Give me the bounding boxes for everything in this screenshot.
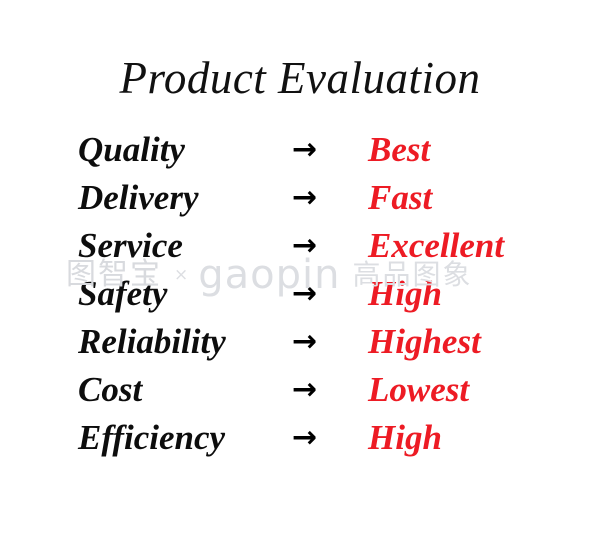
criterion-value: Lowest bbox=[368, 368, 469, 416]
arrow-right-icon: → bbox=[292, 224, 317, 272]
list-item: Safety → High bbox=[0, 272, 600, 320]
criterion-label: Service bbox=[78, 224, 183, 272]
list-item: Efficiency → High bbox=[0, 416, 600, 464]
criterion-label: Quality bbox=[78, 128, 185, 176]
arrow-right-icon: → bbox=[292, 416, 317, 464]
evaluation-list: Quality → Best Delivery → Fast Service →… bbox=[0, 128, 600, 464]
criterion-label: Reliability bbox=[78, 320, 226, 368]
arrow-right-icon: → bbox=[292, 320, 317, 368]
arrow-right-icon: → bbox=[292, 368, 317, 416]
criterion-value: Fast bbox=[368, 176, 432, 224]
arrow-right-icon: → bbox=[292, 128, 317, 176]
criterion-value: High bbox=[368, 272, 442, 320]
product-evaluation-image: Product Evaluation Quality → Best Delive… bbox=[0, 0, 600, 548]
arrow-right-icon: → bbox=[292, 176, 317, 224]
list-item: Cost → Lowest bbox=[0, 368, 600, 416]
criterion-label: Delivery bbox=[78, 176, 198, 224]
list-item: Delivery → Fast bbox=[0, 176, 600, 224]
criterion-value: Best bbox=[368, 128, 430, 176]
list-item: Quality → Best bbox=[0, 128, 600, 176]
criterion-label: Cost bbox=[78, 368, 142, 416]
page-title: Product Evaluation bbox=[0, 52, 600, 104]
arrow-right-icon: → bbox=[292, 272, 317, 320]
criterion-value: High bbox=[368, 416, 442, 464]
list-item: Service → Excellent bbox=[0, 224, 600, 272]
criterion-value: Excellent bbox=[368, 224, 504, 272]
criterion-label: Efficiency bbox=[78, 416, 225, 464]
list-item: Reliability → Highest bbox=[0, 320, 600, 368]
criterion-label: Safety bbox=[78, 272, 167, 320]
criterion-value: Highest bbox=[368, 320, 481, 368]
